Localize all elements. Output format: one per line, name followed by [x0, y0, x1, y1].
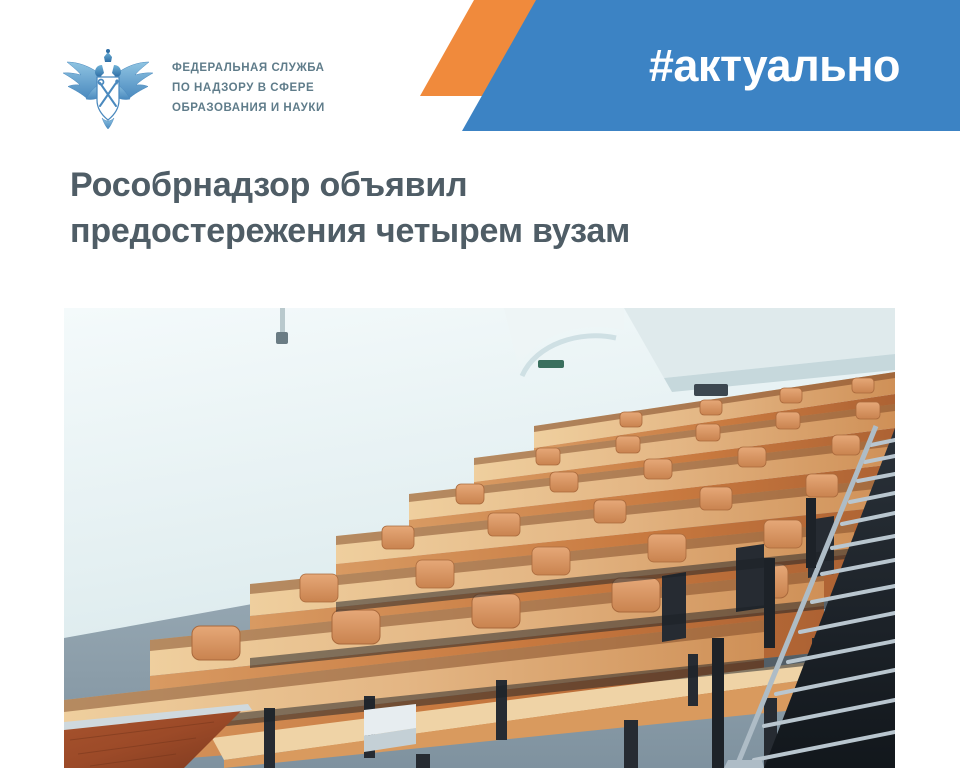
double-headed-eagle-emblem-icon: [58, 48, 158, 130]
hashtag-label: #актуально: [649, 43, 900, 88]
news-card: #актуально: [0, 0, 960, 768]
org-name-line-3: ОБРАЗОВАНИЯ И НАУКИ: [172, 99, 325, 119]
article-photo: [64, 308, 895, 768]
org-name: ФЕДЕРАЛЬНАЯ СЛУЖБА ПО НАДЗОРУ В СФЕРЕ ОБ…: [172, 59, 325, 118]
headline-line-1: Рособрнадзор объявил: [70, 163, 830, 209]
header: #актуально: [0, 0, 960, 140]
org-name-line-1: ФЕДЕРАЛЬНАЯ СЛУЖБА: [172, 59, 325, 79]
logo-block: ФЕДЕРАЛЬНАЯ СЛУЖБА ПО НАДЗОРУ В СФЕРЕ ОБ…: [58, 48, 325, 130]
page-title: Рособрнадзор объявил предостережения чет…: [70, 163, 830, 254]
headline-line-2: предостережения четырем вузам: [70, 209, 830, 255]
org-name-line-2: ПО НАДЗОРУ В СФЕРЕ: [172, 79, 325, 99]
